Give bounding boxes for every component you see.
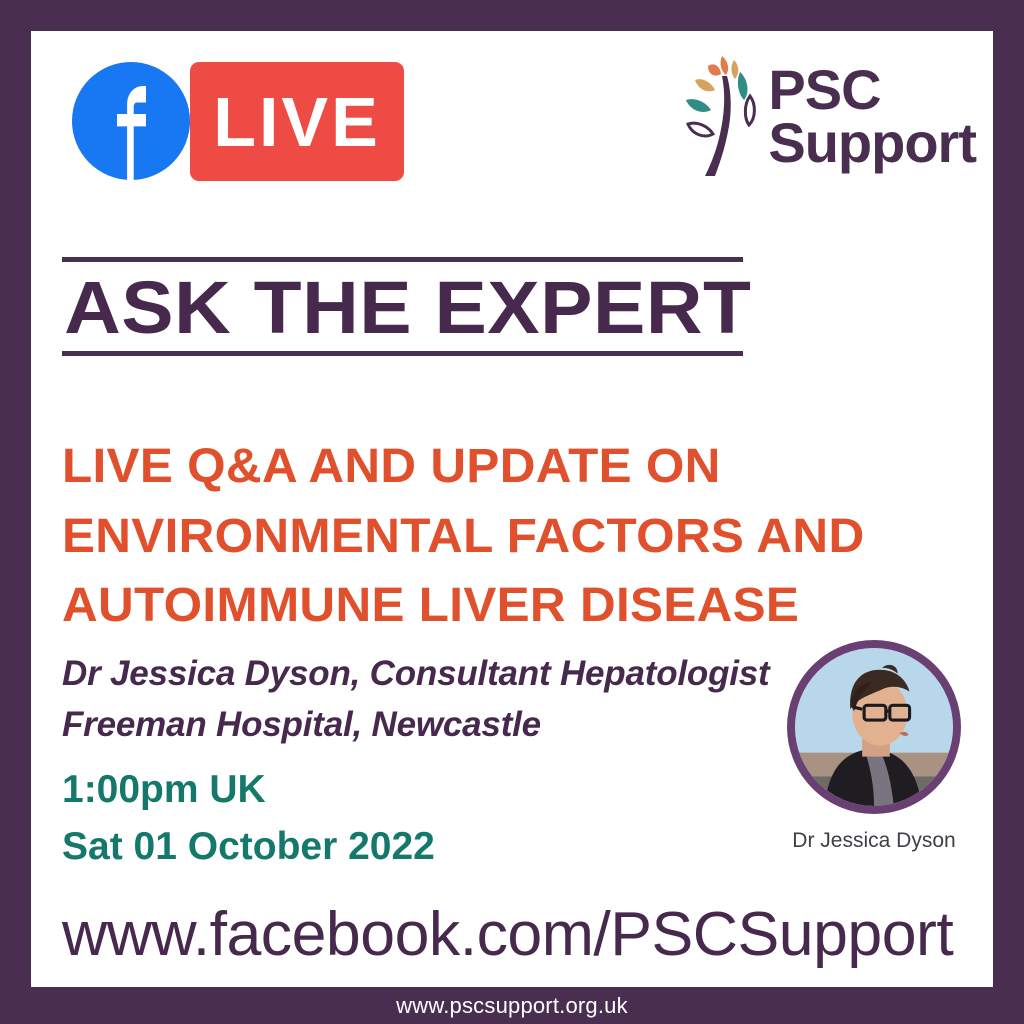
portrait-caption: Dr Jessica Dyson — [783, 828, 965, 853]
psc-wordmark-line2: Support — [768, 116, 976, 169]
event-headline-line2: ENVIRONMENTAL FACTORS AND — [62, 502, 948, 572]
psc-wordmark-line1: PSC — [768, 63, 976, 116]
title-rule-bottom — [62, 351, 743, 356]
event-headline-line3: AUTOIMMUNE LIVER DISEASE — [62, 571, 948, 641]
footer-band: www.pscsupport.org.uk — [0, 987, 1024, 1024]
facebook-url: www.facebook.com/PSCSupport — [62, 902, 971, 967]
avatar — [787, 640, 961, 814]
event-headline: LIVE Q&A AND UPDATE ON ENVIRONMENTAL FAC… — [62, 432, 948, 641]
speaker-portrait-block: Dr Jessica Dyson — [783, 640, 965, 853]
event-time: 1:00pm UK — [62, 762, 435, 819]
live-badge-label: LIVE — [213, 87, 381, 157]
event-schedule: 1:00pm UK Sat 01 October 2022 — [62, 762, 435, 875]
event-date: Sat 01 October 2022 — [62, 819, 435, 876]
speaker-name-role: Dr Jessica Dyson, Consultant Hepatologis… — [62, 648, 782, 699]
poster-canvas: LIVE PSC Support — [0, 0, 1024, 1024]
speaker-affiliation: Freeman Hospital, Newcastle — [62, 699, 782, 750]
event-headline-line1: LIVE Q&A AND UPDATE ON — [62, 432, 948, 502]
page-title: ASK THE EXPERT — [62, 262, 784, 351]
psc-support-logo: PSC Support — [678, 52, 976, 180]
ask-the-expert-block: ASK THE EXPERT — [62, 257, 743, 356]
speaker-details: Dr Jessica Dyson, Consultant Hepatologis… — [62, 648, 782, 750]
footer-website: www.pscsupport.org.uk — [396, 995, 628, 1017]
psc-tree-icon — [678, 52, 764, 180]
live-badge: LIVE — [190, 62, 404, 181]
psc-support-wordmark: PSC Support — [768, 63, 976, 169]
facebook-f-icon — [72, 62, 190, 180]
